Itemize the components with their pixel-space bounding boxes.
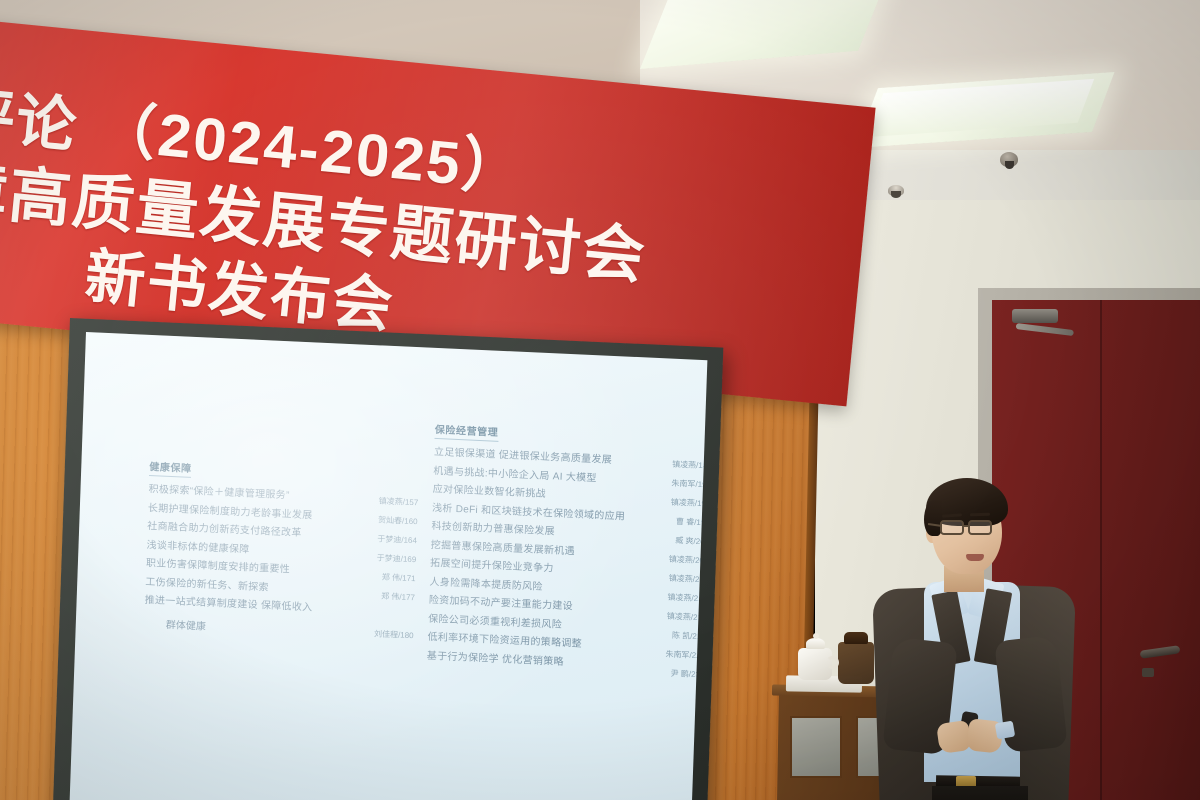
toc-title: 浅谈非标体的健康保障 (146, 540, 249, 555)
toc-ref: 郑 伟/171 (345, 570, 415, 584)
toc-title: 挖掘普惠保险高质量发展新机遇 (431, 540, 575, 557)
conference-room-scene: 障评论 （2024-2025） 保障高质量发展专题研讨会 新书发布会 健康保障 … (0, 0, 1200, 800)
side-table-panel (790, 716, 842, 778)
toc-ref: 镇凌燕/157 (348, 494, 418, 508)
section-heading: 健康保障 (149, 458, 192, 478)
toc-ref: 尹 鹏/232 (634, 666, 704, 680)
hand-left (936, 720, 972, 754)
slide-content: 健康保障 积极探索“保险＋健康管理服务” 长期护理保险制度助力老龄事业发展 社商… (69, 332, 707, 800)
glass-kettle (838, 642, 874, 684)
toc-title: 应对保险业数智化新挑战 (433, 485, 547, 501)
shirt-cuff (995, 721, 1016, 740)
toc-title: 积极探索“保险＋健康管理服务” (148, 485, 289, 502)
toc-title: 工伤保险的新任务、新探索 (145, 577, 269, 593)
toc-title: 险资加码不动产要注重能力建设 (429, 596, 573, 613)
toc-ref: 于梦迪/169 (346, 551, 416, 565)
toc-ref: 镇凌燕/207 (638, 552, 707, 566)
toc-ref-column-management: 镇凌燕/187 朱南军/192 镇凌燕/196 曹 睿/199 臧 爽/203 … (634, 457, 707, 688)
toc-ref-spacer (344, 608, 414, 622)
door-closer-icon (1012, 309, 1058, 323)
toc-title: 立足银保渠道 促进银保业务高质量发展 (434, 448, 612, 467)
toc-entry: 社商融合助力创新药支付路径改革 (147, 522, 377, 543)
toc-ref: 陈 凯/222 (636, 628, 706, 642)
toc-ref-column-health: 镇凌燕/157 贺灿春/160 于梦迪/164 于梦迪/169 郑 伟/171 … (343, 494, 418, 649)
teapot-knob (813, 633, 819, 639)
teapot-handle (826, 656, 839, 669)
glasses-bridge (964, 525, 970, 527)
presenter (880, 470, 1130, 800)
toc-ref: 臧 爽/203 (639, 533, 707, 547)
toc-ref: 镇凌燕/196 (640, 495, 707, 509)
trousers (932, 786, 1028, 800)
toc-title: 拓展空间提升保险业竞争力 (430, 559, 554, 575)
toc-entry: 工伤保险的新任务、新探索 (145, 577, 375, 598)
toc-ref: 镇凌燕/219 (636, 609, 706, 623)
toc-title: 社商融合助力创新药支付路径改革 (147, 522, 302, 540)
mouth (966, 554, 984, 561)
security-camera-icon (1000, 152, 1018, 167)
toc-ref: 于梦迪/164 (347, 532, 417, 546)
teapot-lid (806, 638, 825, 649)
toc-title: 浅析 DeFi 和区块链技术在保险领域的应用 (432, 503, 625, 522)
toc-entry: 长期护理保险制度助力老龄事业发展 (148, 503, 378, 524)
toc-title: 人身险需降本提质防风险 (429, 577, 543, 593)
toc-title: 低利率环境下险资运用的策略调整 (427, 633, 582, 651)
toc-ref: 刘佳程/180 (343, 627, 413, 641)
toc-ref: 郑 伟/177 (345, 589, 415, 603)
toc-ref: 镇凌燕/215 (637, 590, 707, 604)
toc-ref: 曹 睿/199 (640, 514, 708, 528)
smoke-detector-icon (888, 185, 904, 196)
toc-entry: 职业伤害保障制度安排的重要性 (146, 559, 376, 580)
toc-title: 科技创新助力普惠保险发展 (431, 522, 555, 538)
toc-entry: 推进一站式结算制度建设 保障低收入 (144, 596, 374, 617)
door-lock-icon[interactable] (1142, 668, 1154, 677)
glasses-lens-left (940, 520, 964, 535)
toc-ref: 朱南军/192 (641, 476, 707, 490)
glasses-lens-right (968, 520, 992, 535)
toc-title: 基于行为保险学 优化营销策略 (427, 651, 564, 668)
toc-ref: 朱南军/226 (635, 647, 705, 661)
glass-kettle-lid (844, 632, 868, 644)
toc-title: 机遇与挑战:中小险企入局 AI 大模型 (433, 466, 597, 484)
projection-screen[interactable]: 健康保障 积极探索“保险＋健康管理服务” 长期护理保险制度助力老龄事业发展 社商… (69, 332, 707, 800)
toc-entry: 浅谈非标体的健康保障 (146, 540, 376, 561)
toc-title: 职业伤害保障制度安排的重要性 (146, 559, 290, 576)
toc-ref: 贺灿春/160 (347, 513, 417, 527)
toc-title: 保险公司必须重视利差损风险 (428, 614, 562, 631)
section-heading: 保险经营管理 (434, 421, 498, 442)
toc-ref: 镇凌燕/187 (642, 457, 708, 471)
toc-entry-continued: 群体健康 (144, 614, 374, 639)
toc-ref: 镇凌燕/211 (638, 571, 708, 585)
toc-entry: 积极探索“保险＋健康管理服务” (148, 485, 378, 506)
toc-title: 推进一站式结算制度建设 保障低收入 (144, 596, 312, 614)
toc-title: 长期护理保险制度助力老龄事业发展 (148, 503, 313, 521)
